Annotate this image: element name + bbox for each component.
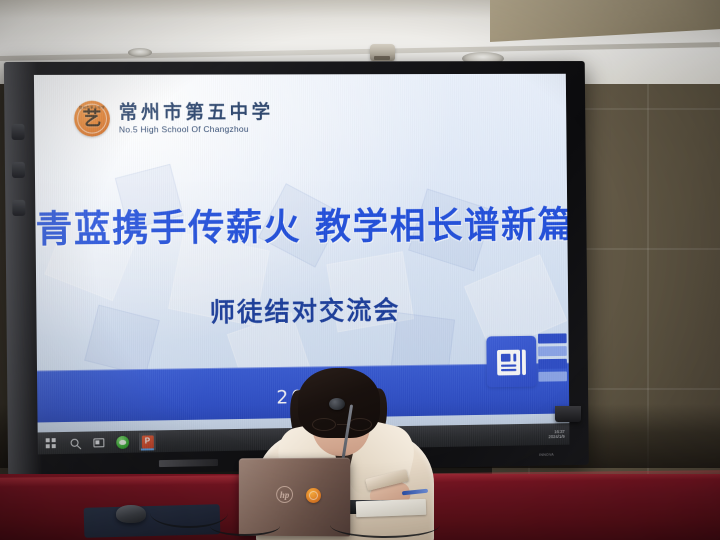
smoke-detector-icon <box>370 44 395 61</box>
decor-bars <box>538 333 567 390</box>
school-name-block: 常州市第五中学 No.5 High School Of Changzhou <box>119 103 274 135</box>
slide-title: 青蓝携手传薪火 教学相长谱新篇 <box>35 195 567 253</box>
powerpoint-button[interactable]: P <box>139 432 156 450</box>
scene-root: 常州市第五中学 艺 常州市第五中学 No.5 High School Of Ch… <box>0 0 720 540</box>
downlight-icon <box>128 48 152 57</box>
school-name-en: No.5 High School Of Changzhou <box>119 123 274 134</box>
task-view-icon <box>93 438 104 447</box>
display-logo <box>159 459 218 467</box>
school-name-cn: 常州市第五中学 <box>119 103 274 124</box>
display-brand-label: INNOVA <box>539 452 554 457</box>
clock-date: 2024/1/9 <box>548 434 564 440</box>
school-logo: 常州市第五中学 艺 常州市第五中学 No.5 High School Of Ch… <box>74 100 274 137</box>
start-button[interactable] <box>44 436 58 450</box>
newspaper-icon <box>486 336 536 388</box>
display-menu-button[interactable] <box>12 162 25 178</box>
display-stand-foot <box>555 406 581 422</box>
microphone-icon[interactable] <box>329 398 345 410</box>
display-power-button[interactable] <box>11 124 24 140</box>
windows-icon <box>46 438 56 448</box>
taskbar-clock[interactable]: 16:37 2024/1/9 <box>548 429 569 440</box>
cable <box>210 516 280 536</box>
computer-mouse[interactable] <box>116 505 146 523</box>
seal-glyph: 艺 <box>74 101 110 137</box>
hp-logo-icon: hp <box>276 486 293 503</box>
school-seal-icon: 常州市第五中学 艺 <box>74 101 110 137</box>
wechat-button[interactable] <box>115 435 129 449</box>
search-button[interactable] <box>68 436 82 450</box>
slide-subtitle: 师徒结对交流会 <box>36 288 568 331</box>
search-icon <box>71 439 79 447</box>
laptop-sticker-icon <box>306 488 321 503</box>
wechat-icon <box>116 435 129 448</box>
display-source-button[interactable] <box>12 200 25 216</box>
task-view-button[interactable] <box>91 435 105 449</box>
powerpoint-icon: P <box>141 435 153 448</box>
cable <box>330 512 440 538</box>
glasses-icon <box>310 418 374 431</box>
